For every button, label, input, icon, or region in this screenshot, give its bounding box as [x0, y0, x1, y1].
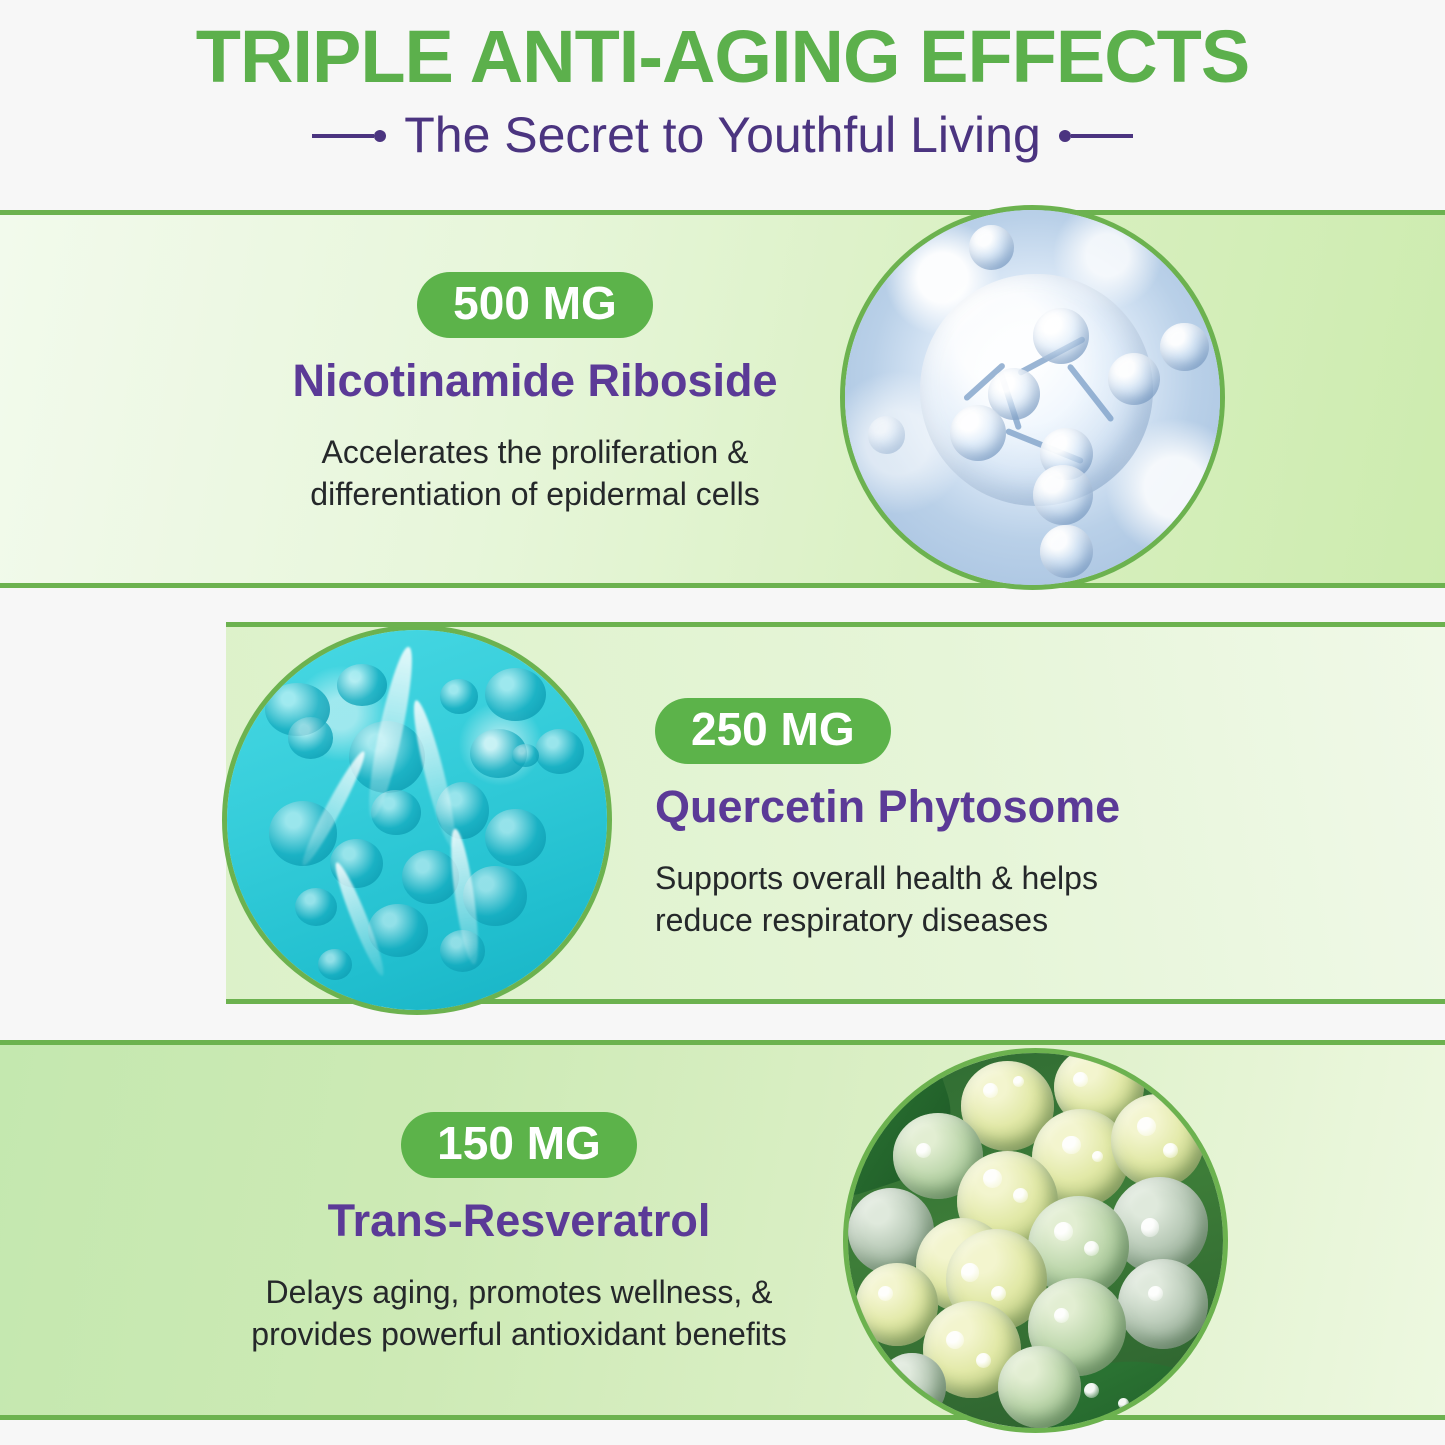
grape — [998, 1346, 1081, 1429]
molecule-photo-inner — [845, 210, 1220, 585]
water-droplet — [916, 1143, 931, 1158]
dose-badge-1: 500 MG — [417, 272, 653, 338]
molecule-atom — [1033, 308, 1089, 364]
water-droplet — [1054, 1222, 1073, 1241]
gel-cell — [440, 679, 478, 713]
description-line-2a: Supports overall health & helps — [655, 858, 1185, 900]
molecule-bubble-photo — [840, 205, 1225, 590]
water-droplet — [878, 1286, 893, 1301]
ingredient-description-3: Delays aging, promotes wellness, & provi… — [228, 1272, 810, 1355]
water-droplet — [1073, 1072, 1088, 1087]
left-rule-decoration — [312, 130, 386, 142]
gel-cell — [485, 809, 546, 866]
molecule-atom — [1033, 465, 1093, 525]
water-droplet — [1084, 1241, 1099, 1256]
right-rule-bar — [1071, 134, 1133, 138]
gel-cell — [288, 717, 334, 759]
background-bubble — [969, 225, 1014, 270]
dose-badge-wrap-2: 250 MG — [655, 698, 1185, 764]
water-droplet — [991, 1286, 1006, 1301]
water-droplet — [1062, 1136, 1081, 1155]
description-line-1b: differentiation of epidermal cells — [250, 474, 820, 516]
ingredient-description-1: Accelerates the proliferation & differen… — [250, 432, 820, 515]
ingredient-name-2: Quercetin Phytosome — [655, 782, 1185, 832]
water-droplet — [1148, 1286, 1163, 1301]
left-rule-dot — [374, 130, 386, 142]
header: TRIPLE ANTI-AGING EFFECTS The Secret to … — [0, 0, 1445, 200]
grape — [1111, 1094, 1205, 1188]
ingredient-name-3: Trans-Resveratrol — [228, 1196, 810, 1246]
gel-cell — [485, 668, 546, 721]
grapes-photo-inner — [848, 1053, 1223, 1428]
ingredient-description-2: Supports overall health & helps reduce r… — [655, 858, 1185, 941]
water-droplet — [1163, 1143, 1178, 1158]
gel-cell — [535, 729, 584, 775]
gel-cell — [318, 949, 352, 979]
water-droplet — [983, 1169, 1002, 1188]
background-bubble — [868, 416, 906, 454]
page-title: TRIPLE ANTI-AGING EFFECTS — [0, 20, 1445, 94]
water-droplet — [1141, 1218, 1160, 1237]
description-line-3a: Delays aging, promotes wellness, & — [228, 1272, 810, 1314]
left-rule-bar — [312, 134, 374, 138]
ingredient-content-3: 150 MG Trans-Resveratrol Delays aging, p… — [228, 1112, 810, 1356]
description-line-2b: reduce respiratory diseases — [655, 900, 1185, 942]
water-droplet — [1092, 1151, 1103, 1162]
teal-gel-cells-photo — [222, 625, 612, 1015]
ingredient-content-2: 250 MG Quercetin Phytosome Supports over… — [655, 698, 1185, 942]
water-droplet — [961, 1263, 980, 1282]
gel-cell — [512, 744, 539, 767]
water-droplet — [983, 1083, 998, 1098]
page-subtitle: The Secret to Youthful Living — [404, 108, 1041, 163]
gel-photo-inner — [227, 630, 607, 1010]
gel-cell — [295, 888, 337, 926]
right-rule-dot — [1059, 130, 1071, 142]
water-droplet — [976, 1353, 991, 1368]
gel-cell — [337, 664, 386, 706]
molecule-atom — [1108, 353, 1161, 406]
ingredient-content-1: 500 MG Nicotinamide Riboside Accelerates… — [250, 272, 820, 516]
subtitle-row: The Secret to Youthful Living — [0, 108, 1445, 163]
background-bubble — [1160, 323, 1209, 372]
description-line-3b: provides powerful antioxidant benefits — [228, 1314, 810, 1356]
grape — [878, 1353, 946, 1421]
dose-badge-2: 250 MG — [655, 698, 891, 764]
description-line-1a: Accelerates the proliferation & — [250, 432, 820, 474]
dose-badge-wrap-1: 500 MG — [250, 272, 820, 338]
grape — [1118, 1259, 1208, 1349]
water-droplet — [1137, 1117, 1156, 1136]
water-droplet — [1013, 1076, 1024, 1087]
ingredient-name-1: Nicotinamide Riboside — [250, 356, 820, 406]
background-bubble — [1040, 525, 1093, 578]
dose-badge-wrap-3: 150 MG — [228, 1112, 810, 1178]
green-grapes-photo — [843, 1048, 1228, 1433]
dose-badge-3: 150 MG — [401, 1112, 637, 1178]
water-droplet — [1013, 1188, 1028, 1203]
right-rule-decoration — [1059, 130, 1133, 142]
